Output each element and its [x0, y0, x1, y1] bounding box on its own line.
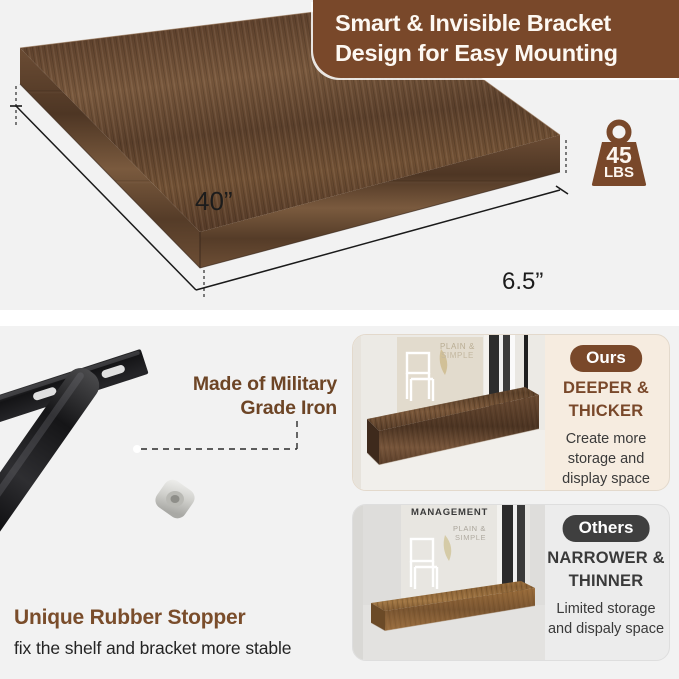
- rubber-stopper: [152, 476, 198, 522]
- banner-line-1: Smart & Invisible Bracket: [335, 8, 667, 38]
- header-banner-text: Smart & Invisible Bracket Design for Eas…: [335, 8, 667, 68]
- banner-line-2: Design for Easy Mounting: [335, 38, 667, 68]
- comparison-headline-ours: DEEPER & THICKER: [545, 377, 667, 423]
- hero-section: 40” 6.5” 45 LBS Smart & Invisible Bracke…: [0, 0, 679, 310]
- svg-text:PLAIN &: PLAIN &: [453, 524, 486, 533]
- comparison-body-others: Limited storage and dispaly space: [547, 599, 665, 639]
- comparison-text-ours: Ours DEEPER & THICKER Create more storag…: [543, 335, 669, 490]
- others-headline-line-2: THINNER: [545, 570, 667, 593]
- dimension-depth-label: 6.5”: [502, 268, 543, 296]
- bracket-feature-panel: Made of Military Grade Iron Unique Rubbe…: [0, 326, 345, 679]
- ours-headline-line-1: DEEPER &: [545, 377, 667, 400]
- comparison-headline-others: NARROWER & THINNER: [545, 547, 667, 593]
- product-infographic: 40” 6.5” 45 LBS Smart & Invisible Bracke…: [0, 0, 679, 679]
- svg-text:SIMPLE: SIMPLE: [441, 351, 474, 360]
- svg-text:PLAIN &: PLAIN &: [440, 342, 475, 351]
- military-grade-line-1: Made of Military: [155, 372, 337, 396]
- header-banner: Smart & Invisible Bracket Design for Eas…: [313, 0, 679, 78]
- rubber-stopper-title: Unique Rubber Stopper: [14, 606, 245, 630]
- weight-value: 45: [583, 144, 655, 166]
- badge-ours: Ours: [570, 345, 642, 372]
- svg-text:MANAGEMENT: MANAGEMENT: [411, 507, 488, 518]
- comparison-text-others: Others NARROWER & THINNER Limited storag…: [543, 505, 669, 660]
- comparison-body-ours: Create more storage and display space: [547, 429, 665, 489]
- dimension-length-label: 40”: [195, 186, 233, 217]
- features-section: Made of Military Grade Iron Unique Rubbe…: [0, 326, 679, 679]
- ours-headline-line-2: THICKER: [545, 400, 667, 423]
- rubber-stopper-subtitle: fix the shelf and bracket more stable: [14, 638, 291, 659]
- weight-capacity-badge: 45 LBS: [583, 118, 655, 190]
- others-headline-line-1: NARROWER &: [545, 547, 667, 570]
- svg-text:SIMPLE: SIMPLE: [455, 533, 486, 542]
- section-divider: [0, 310, 679, 326]
- military-grade-line-2: Grade Iron: [155, 396, 337, 420]
- comparison-card-others: MANAGEMENT PLAIN & SIMPLE KIM BRENNEMAN: [352, 504, 670, 661]
- badge-others: Others: [563, 515, 650, 542]
- comparison-photo-others: MANAGEMENT PLAIN & SIMPLE KIM BRENNEMAN: [353, 505, 545, 660]
- comparison-card-ours: PLAIN & SIMPLE KIM BRENNEMAN: [352, 334, 670, 491]
- military-grade-title: Made of Military Grade Iron: [155, 372, 337, 420]
- weight-unit: LBS: [583, 165, 655, 180]
- comparison-photo-ours: PLAIN & SIMPLE KIM BRENNEMAN: [353, 335, 545, 490]
